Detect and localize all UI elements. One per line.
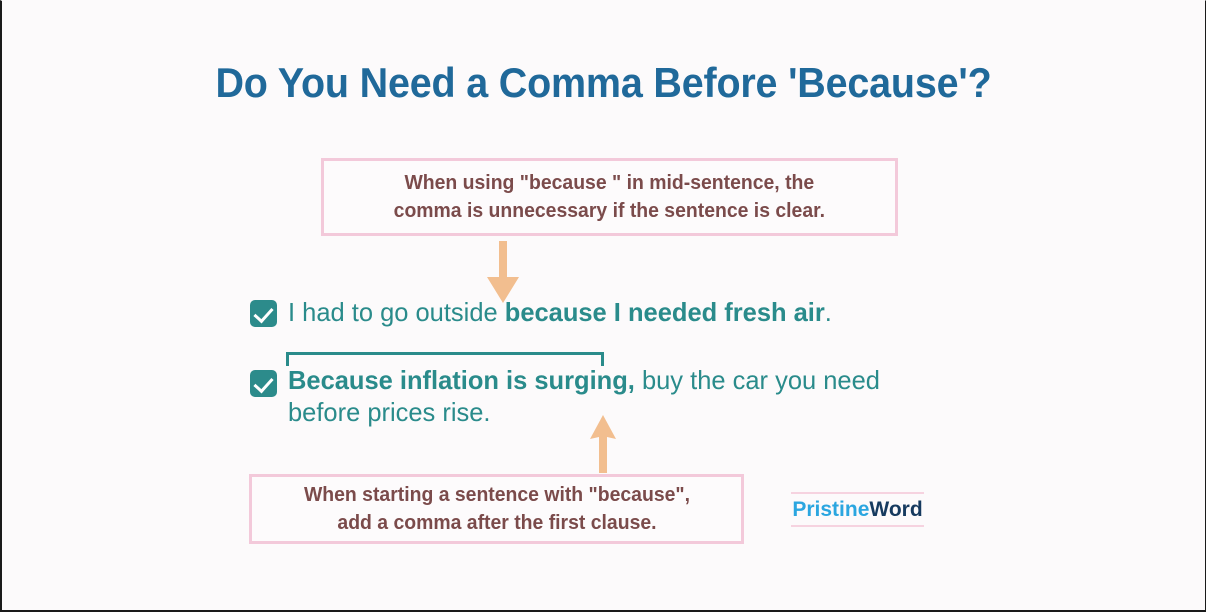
example-row-1: I had to go outside because I needed fre… <box>250 297 950 329</box>
example-1-sentence: I had to go outside because I needed fre… <box>288 297 832 329</box>
callout-top-line-2: comma is unnecessary if the sentence is … <box>394 197 825 225</box>
brand-logo-part-2: Word <box>869 498 922 521</box>
example-1-suffix: . <box>825 297 832 327</box>
brand-logo[interactable]: PristineWord <box>791 492 924 527</box>
example-2-highlight: Because inflation is surging, <box>288 365 635 395</box>
callout-bottom-line-2: add a comma after the first clause. <box>303 509 689 537</box>
arrow-up-icon <box>588 415 618 478</box>
callout-top-line-1: When using "because " in mid-sentence, t… <box>394 169 825 197</box>
callout-mid-sentence-rule: When using "because " in mid-sentence, t… <box>321 158 898 236</box>
callout-sentence-start-rule: When starting a sentence with "because",… <box>249 474 744 544</box>
page-title: Do You Need a Comma Before 'Because'? <box>38 59 1169 107</box>
brand-logo-part-1: Pristine <box>792 498 869 521</box>
example-1-highlight: because I needed fresh air <box>505 297 825 327</box>
slide-canvas: Do You Need a Comma Before 'Because'? Wh… <box>0 0 1206 612</box>
callout-bottom-line-1: When starting a sentence with "because", <box>303 481 689 509</box>
example-1-prefix: I had to go outside <box>288 297 505 327</box>
checkbox-checked-icon[interactable] <box>250 300 277 327</box>
checkbox-checked-icon[interactable] <box>250 370 277 397</box>
clause-bracket <box>286 352 604 366</box>
